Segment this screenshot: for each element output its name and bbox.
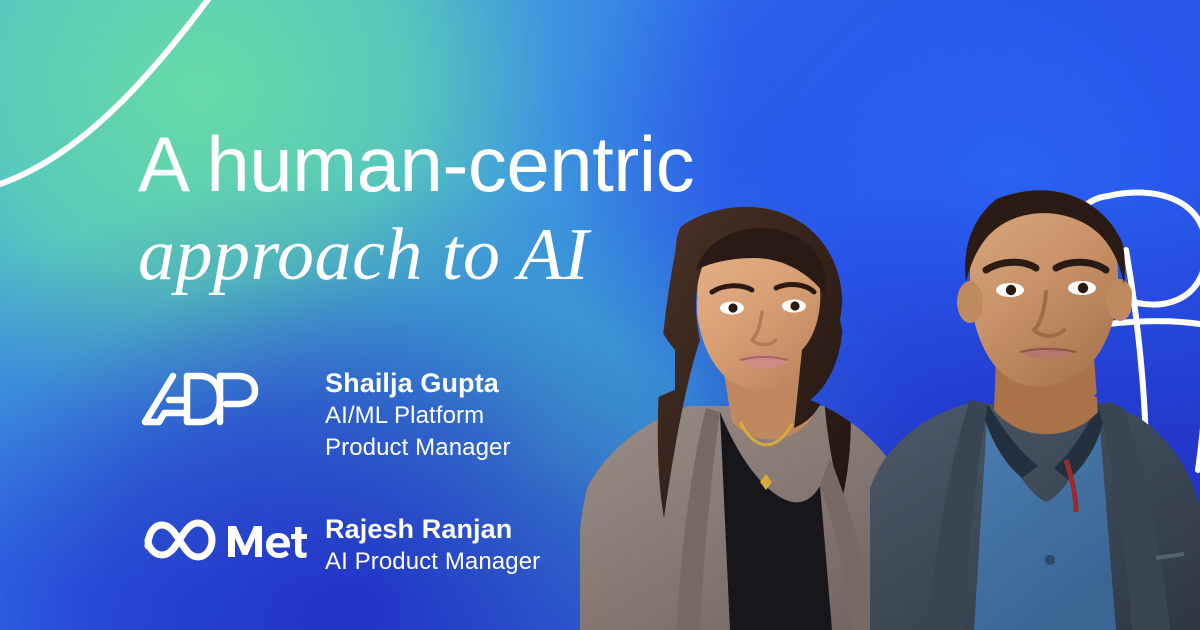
adp-logo [140,366,325,428]
speaker-item-shailja-gupta: Shailja Gupta AI/ML Platform Product Man… [140,366,540,464]
speaker-role-line-2: Product Manager [325,432,511,464]
photo-pupil-left [1006,285,1016,295]
speaker-photo-rajesh-ranjan [870,160,1200,630]
photo-pupil-right [790,301,799,310]
photo-ear-left [957,281,983,323]
speaker-details: Rajesh Ranjan AI Product Manager [325,512,540,578]
speaker-item-rajesh-ranjan: Rajesh Ranjan AI Product Manager [140,512,540,578]
page-title: A human-centric approach to AI [138,118,694,298]
webinar-promo-banner: A human-centric approach to AI Shailja G… [0,0,1200,630]
speaker-role-line-1: AI/ML Platform [325,400,511,432]
photo-pupil-left [728,303,737,312]
meta-infinity-icon [148,523,212,557]
photo-shirt-button [1045,555,1055,565]
title-line-2: approach to AI [138,212,694,298]
photo-ear-right [1107,279,1133,321]
speaker-list: Shailja Gupta AI/ML Platform Product Man… [140,366,540,578]
speaker-role-line-1: AI Product Manager [325,546,540,578]
speaker-details: Shailja Gupta AI/ML Platform Product Man… [325,366,511,464]
speaker-name: Shailja Gupta [325,366,511,400]
photo-pupil-right [1078,283,1088,293]
meta-logo [140,512,325,564]
speaker-name: Rajesh Ranjan [325,512,540,546]
title-line-1: A human-centric [138,118,694,210]
